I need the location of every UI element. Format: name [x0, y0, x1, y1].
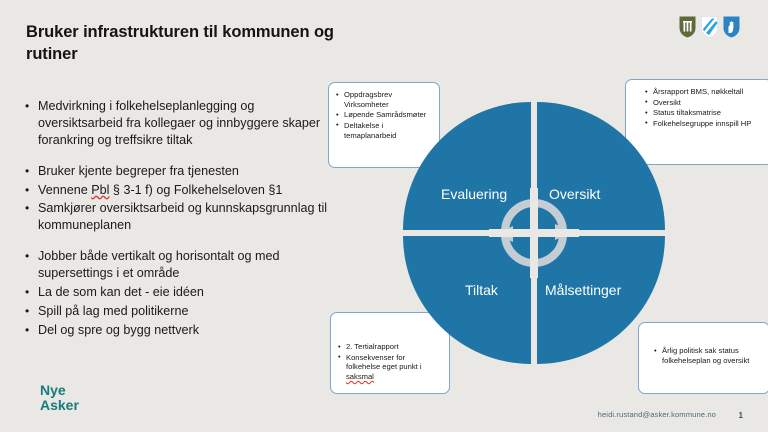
quadrant-label-tiltak: Tiltak: [465, 282, 498, 298]
misspelled-word: saksmal: [346, 372, 374, 381]
list-item: Jobber både vertikalt og horisontalt og …: [24, 248, 334, 282]
quadrant-evaluering[interactable]: [403, 102, 531, 230]
cycle-diagram: Evaluering Oversikt Tiltak Målsettinger: [403, 102, 665, 364]
page-number: 1: [739, 411, 743, 420]
list-item: Årsrapport BMS, nøkkeltall: [645, 87, 764, 97]
asker-coat-of-arms-icon: [723, 16, 740, 38]
quadrant-label-evaluering: Evaluering: [441, 186, 507, 202]
bullet-group: Jobber både vertikalt og horisontalt og …: [24, 248, 334, 338]
quadrant-label-oversikt: Oversikt: [549, 186, 600, 202]
quadrant-oversikt[interactable]: [537, 102, 665, 230]
list-item: Del og spre og bygg nettverk: [24, 322, 334, 339]
list-item: Vennene Pbl § 3-1 f) og Folkehelseloven …: [24, 182, 334, 199]
hurum-coat-of-arms-icon: [679, 16, 696, 38]
logo-line-2: Asker: [40, 398, 79, 414]
list-item: Samkjører oversiktsarbeid og kunnskapsgr…: [24, 200, 334, 234]
list-item: Bruker kjente begreper fra tjenesten: [24, 163, 334, 180]
bullet-group: Bruker kjente begreper fra tjenesten Ven…: [24, 163, 334, 235]
royken-coat-of-arms-icon: [701, 16, 718, 38]
quadrant-tiltak[interactable]: [403, 236, 531, 364]
list-item: Medvirkning i folkehelseplanlegging og o…: [24, 98, 334, 149]
coat-of-arms-group: [679, 16, 740, 38]
bullet-group: Medvirkning i folkehelseplanlegging og o…: [24, 98, 334, 149]
logo-line-1: Nye: [40, 383, 79, 399]
slide-canvas: Bruker infrastrukturen til kommunen og r…: [0, 0, 768, 432]
quadrant-malsettinger[interactable]: [537, 236, 665, 364]
list-item: Spill på lag med politikerne: [24, 303, 334, 320]
bullet-list: Medvirkning i folkehelseplanlegging og o…: [24, 98, 334, 339]
misspelled-word: Pbl: [91, 183, 109, 197]
page-title: Bruker infrastrukturen til kommunen og r…: [26, 22, 356, 66]
contact-email: heidi.rustand@asker.kommune.no: [598, 410, 716, 419]
list-item: Årlig politisk sak status folkehelseplan…: [654, 346, 761, 365]
nye-asker-logo: Nye Asker: [40, 383, 79, 414]
quadrant-label-malsettinger: Målsettinger: [545, 282, 621, 298]
list-item: La de som kan det - eie idéen: [24, 284, 334, 301]
